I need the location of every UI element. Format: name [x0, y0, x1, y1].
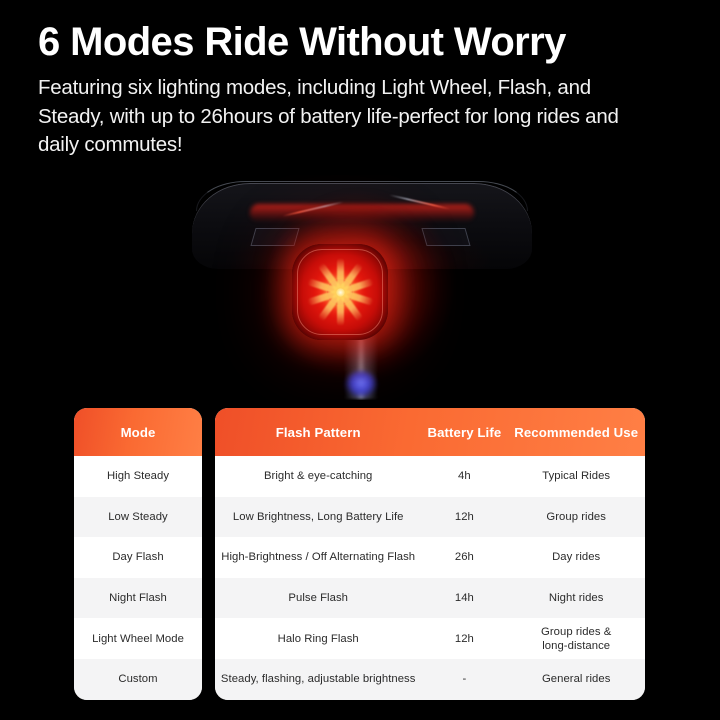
- cell-battery-life: 12h: [421, 632, 507, 646]
- table-row[interactable]: High Steady: [74, 456, 202, 497]
- table-row[interactable]: Night Flash: [74, 578, 202, 619]
- header-flash-pattern: Flash Pattern: [215, 425, 421, 440]
- headline-block: 6 Modes Ride Without Worry Featuring six…: [38, 18, 688, 160]
- mode-column-header: Mode: [74, 408, 202, 456]
- cell-battery-life: -: [421, 672, 507, 686]
- cell-recommended-use: Group rides: [507, 510, 645, 524]
- cell-recommended-use-line1: General rides: [542, 673, 610, 685]
- header-recommended-use: Recommended Use: [507, 425, 645, 440]
- cell-flash-pattern: Pulse Flash: [215, 591, 421, 605]
- cell-mode: Night Flash: [74, 591, 202, 605]
- cell-flash-pattern: Halo Ring Flash: [215, 632, 421, 646]
- cell-recommended-use: General rides: [507, 672, 645, 686]
- header-battery-life: Battery Life: [421, 425, 507, 440]
- cell-recommended-use-line2: long-distance: [507, 639, 645, 653]
- cell-recommended-use-line1: Group rides: [546, 511, 606, 523]
- cell-recommended-use-line1: Day rides: [552, 551, 600, 563]
- table-row[interactable]: Low Brightness, Long Battery Life 12h Gr…: [215, 497, 645, 538]
- cell-flash-pattern: Steady, flashing, adjustable brightness: [215, 672, 421, 686]
- table-row[interactable]: Steady, flashing, adjustable brightness …: [215, 659, 645, 700]
- table-row[interactable]: High-Brightness / Off Alternating Flash …: [215, 537, 645, 578]
- table-row[interactable]: Low Steady: [74, 497, 202, 538]
- cell-mode: Light Wheel Mode: [74, 632, 202, 646]
- taillight-hub-core: [336, 288, 345, 297]
- detail-columns-header: Flash Pattern Battery Life Recommended U…: [215, 408, 645, 456]
- detail-columns-panel: Flash Pattern Battery Life Recommended U…: [215, 408, 645, 700]
- hero-photo: [0, 175, 720, 400]
- modes-comparison-table: Mode High Steady Low Steady Day Flash Ni…: [0, 408, 720, 704]
- mode-column-panel: Mode High Steady Low Steady Day Flash Ni…: [74, 408, 202, 700]
- cell-recommended-use-line1: Group rides &: [541, 626, 611, 638]
- table-row[interactable]: Day Flash: [74, 537, 202, 578]
- header-mode: Mode: [74, 425, 202, 440]
- cell-battery-life: 12h: [421, 510, 507, 524]
- page-subtitle: Featuring six lighting modes, including …: [38, 74, 658, 160]
- table-row[interactable]: Bright & eye-catching 4h Typical Rides: [215, 456, 645, 497]
- cell-battery-life: 26h: [421, 550, 507, 564]
- product-feature-page: 6 Modes Ride Without Worry Featuring six…: [0, 0, 720, 720]
- cell-recommended-use-line1: Night rides: [549, 592, 604, 604]
- cell-battery-life: 4h: [421, 469, 507, 483]
- cell-recommended-use: Night rides: [507, 591, 645, 605]
- cell-mode: Custom: [74, 672, 202, 686]
- table-row[interactable]: Pulse Flash 14h Night rides: [215, 578, 645, 619]
- table-row[interactable]: Light Wheel Mode: [74, 618, 202, 659]
- page-title: 6 Modes Ride Without Worry: [38, 18, 688, 66]
- cell-recommended-use: Day rides: [507, 550, 645, 564]
- cell-recommended-use: Group rides & long-distance: [507, 625, 645, 653]
- cell-mode: Day Flash: [74, 550, 202, 564]
- cell-mode: Low Steady: [74, 510, 202, 524]
- table-row[interactable]: Custom: [74, 659, 202, 700]
- table-row[interactable]: Halo Ring Flash 12h Group rides & long-d…: [215, 618, 645, 659]
- cell-battery-life: 14h: [421, 591, 507, 605]
- cell-flash-pattern: Low Brightness, Long Battery Life: [215, 510, 421, 524]
- cell-flash-pattern: Bright & eye-catching: [215, 469, 421, 483]
- bike-taillight: [292, 244, 388, 340]
- cell-mode: High Steady: [74, 469, 202, 483]
- cell-recommended-use: Typical Rides: [507, 469, 645, 483]
- cell-recommended-use-line1: Typical Rides: [542, 470, 610, 482]
- cell-flash-pattern: High-Brightness / Off Alternating Flash: [215, 550, 421, 564]
- bicycle-scene: [0, 175, 720, 400]
